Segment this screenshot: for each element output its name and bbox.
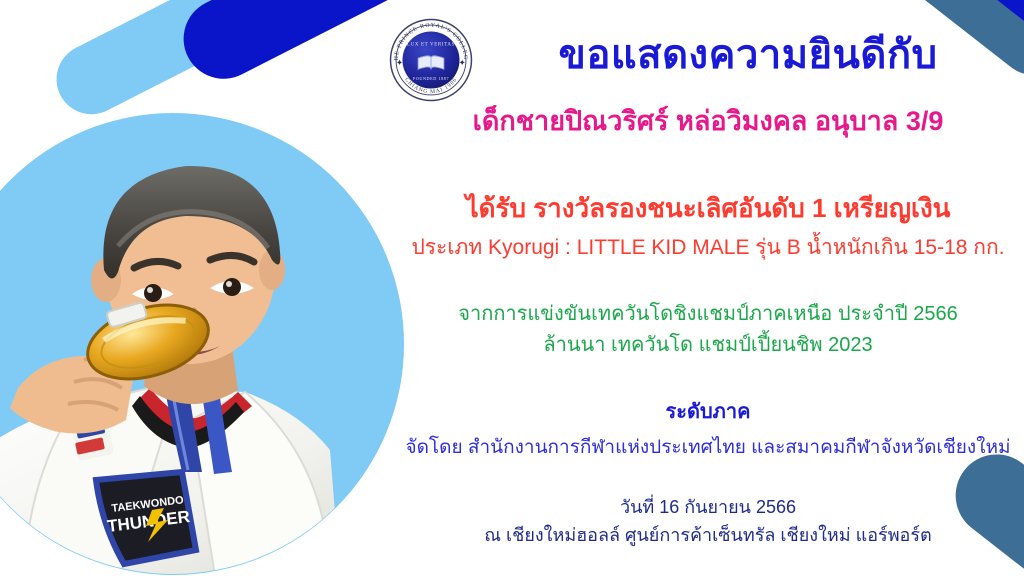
event-date: วันที่ 16 กันยายน 2566 [392,496,1024,519]
eye-right-pupil [223,278,241,296]
organizer-text: จัดโดย สำนักงานการกีฬาแห่งประเทศไทย และส… [392,436,1024,460]
eye-left-pupil [144,284,162,302]
card-text-content: ขอแสดงความยินดีกับ เด็กชายปิณวริศร์ หล่อ… [392,0,1024,576]
award-category: ประเภท Kyorugi : LITTLE KID MALE รุ่น B … [392,235,1024,262]
event-name-alt: ล้านนา เทควันโด แชมป์เปี้ยนชิพ 2023 [392,333,1024,359]
event-name-thai: จากการแข่งขันเทควันโดชิงแชมป์ภาคเหนือ ปร… [392,302,1024,328]
event-venue: ณ เชียงใหม่ฮอลล์ ศูนย์การค้าเซ็นทรัล เชี… [392,524,1024,547]
headline-congratulations: ขอแสดงความยินดีกับ [472,30,1024,81]
recipient-photo: TAEKWONDO THUNDER [0,120,400,576]
recipient-name: เด็กชายปิณวริศร์ หล่อวิมงคล อนุบาล 3/9 [392,104,1024,139]
congratulation-card: TAEKWONDO THUNDER [0,0,1024,576]
boy-with-medal-illustration: TAEKWONDO THUNDER [0,120,400,576]
competition-level: ระดับภาค [392,400,1024,426]
award-title: ได้รับ รางวัลรองชนะเลิศอันดับ 1 เหรียญเง… [392,192,1024,225]
